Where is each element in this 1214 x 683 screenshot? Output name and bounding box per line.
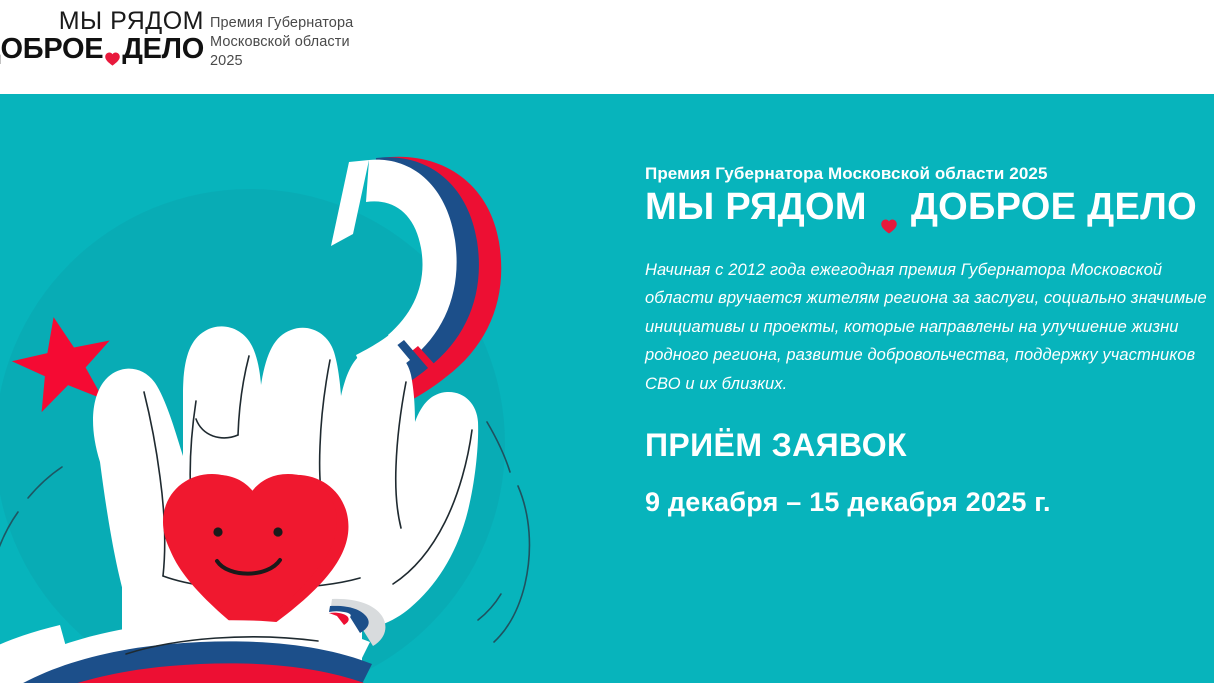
brand-logo[interactable]: МЫ РЯДОМ ДОБРОЕ ДЕЛО [12,8,204,64]
hero-title-left: МЫ РЯДОМ [645,186,867,229]
brand-logo-line-top: МЫ РЯДОМ [59,8,204,34]
heart-eye-right [273,527,282,536]
brand-logo-line-bottom: ДОБРОЕ ДЕЛО [0,35,204,64]
page-title: МЫ РЯДОМ ДОБРОЕ ДЕЛО [645,186,1197,229]
applications-heading: ПРИЁМ ЗАЯВОК [645,427,907,464]
hand-holding-heart-illustration [0,94,620,683]
hero-eyebrow: Премия Губернатора Московской области 20… [645,164,1048,184]
hero-copy: Премия Губернатора Московской области 20… [645,94,1205,683]
site-header: МЫ РЯДОМ ДОБРОЕ ДЕЛО Премия Губернатора … [0,0,1214,94]
applications-dates: 9 декабря – 15 декабря 2025 г. [645,487,1051,518]
heart-icon [881,201,897,216]
heart-icon [105,43,120,57]
header-subtitle-line-2: Московской области [210,33,353,52]
header-subtitle-line-3: 2025 [210,52,353,71]
hero-banner: Премия Губернатора Московской области 20… [0,94,1214,683]
header-subtitle: Премия Губернатора Московской области 20… [210,14,353,71]
heart-eye-left [213,527,222,536]
hero-description: Начиная с 2012 года ежегодная премия Губ… [645,256,1214,398]
hero-title-right: ДОБРОЕ ДЕЛО [911,186,1197,229]
landing-page: МЫ РЯДОМ ДОБРОЕ ДЕЛО Премия Губернатора … [0,0,1214,683]
brand-logo-word-delo: ДЕЛО [122,35,204,64]
header-subtitle-line-1: Премия Губернатора [210,14,353,33]
brand-logo-word-dobroe: ДОБРОЕ [0,35,103,64]
